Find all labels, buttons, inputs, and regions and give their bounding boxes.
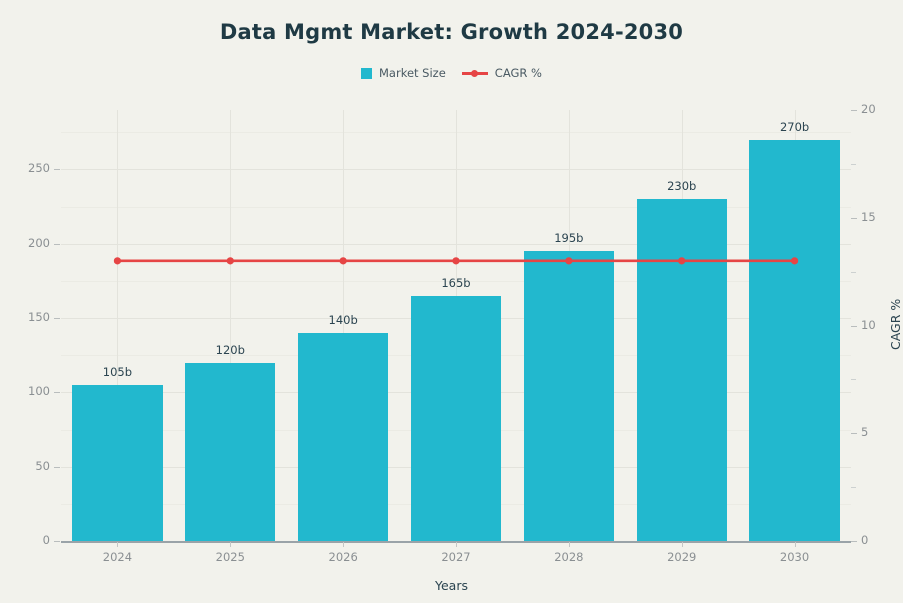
y-tick-label-left-200: 200 <box>8 236 50 250</box>
y-tick-label-left-150: 150 <box>8 310 50 324</box>
cagr-point-2027[interactable] <box>452 257 459 264</box>
y-tick-mark-left <box>54 318 60 319</box>
x-tick-label-2024: 2024 <box>77 550 157 564</box>
square-swatch-icon <box>361 68 372 79</box>
y-tick-label-right-15: 15 <box>861 210 901 224</box>
cagr-point-2030[interactable] <box>791 257 798 264</box>
legend-item-cagr[interactable]: CAGR % <box>462 66 542 80</box>
x-tick-mark-2028 <box>569 542 570 547</box>
y-tick-mark-right-minor <box>851 164 856 165</box>
x-tick-label-2026: 2026 <box>303 550 383 564</box>
y-tick-mark-right <box>851 433 857 434</box>
legend-label-market-size: Market Size <box>379 66 446 80</box>
y-axis-right-title: CAGR % <box>888 299 903 350</box>
y-tick-mark-right-minor <box>851 379 856 380</box>
chart-legend: Market Size CAGR % <box>0 66 903 80</box>
y-tick-mark-left <box>54 467 60 468</box>
y-tick-mark-right-minor <box>851 487 856 488</box>
y-tick-mark-right <box>851 218 857 219</box>
line-series-cagr <box>61 110 851 541</box>
y-tick-label-left-250: 250 <box>8 161 50 175</box>
cagr-point-2025[interactable] <box>227 257 234 264</box>
chart-canvas: Data Mgmt Market: Growth 2024-2030 Marke… <box>0 0 903 603</box>
plot-area: 105b120b140b165b195b230b270b <box>61 110 851 541</box>
y-tick-mark-left <box>54 392 60 393</box>
x-tick-mark-2030 <box>795 542 796 547</box>
cagr-point-2028[interactable] <box>565 257 572 264</box>
x-axis-title: Years <box>0 578 903 593</box>
y-tick-label-right-0: 0 <box>861 533 901 547</box>
x-tick-label-2029: 2029 <box>642 550 722 564</box>
x-tick-label-2025: 2025 <box>190 550 270 564</box>
x-tick-label-2028: 2028 <box>529 550 609 564</box>
x-tick-label-2030: 2030 <box>755 550 835 564</box>
y-tick-label-right-5: 5 <box>861 425 901 439</box>
cagr-point-2024[interactable] <box>114 257 121 264</box>
x-tick-mark-2024 <box>117 542 118 547</box>
y-tick-label-left-0: 0 <box>8 533 50 547</box>
y-tick-label-right-20: 20 <box>861 102 901 116</box>
x-tick-mark-2027 <box>456 542 457 547</box>
x-tick-mark-2029 <box>682 542 683 547</box>
line-marker-icon <box>462 68 488 79</box>
cagr-point-2029[interactable] <box>678 257 685 264</box>
x-tick-label-2027: 2027 <box>416 550 496 564</box>
y-tick-mark-left <box>54 541 60 542</box>
legend-label-cagr: CAGR % <box>495 66 542 80</box>
y-tick-mark-left <box>54 244 60 245</box>
cagr-point-2026[interactable] <box>340 257 347 264</box>
y-tick-mark-right <box>851 326 857 327</box>
chart-title: Data Mgmt Market: Growth 2024-2030 <box>0 20 903 44</box>
y-tick-mark-right <box>851 110 857 111</box>
x-tick-mark-2025 <box>230 542 231 547</box>
y-tick-mark-right <box>851 541 857 542</box>
legend-item-market-size[interactable]: Market Size <box>361 66 446 80</box>
y-tick-mark-left <box>54 169 60 170</box>
x-tick-mark-2026 <box>343 542 344 547</box>
y-tick-label-left-50: 50 <box>8 459 50 473</box>
y-tick-label-left-100: 100 <box>8 384 50 398</box>
y-tick-mark-right-minor <box>851 272 856 273</box>
